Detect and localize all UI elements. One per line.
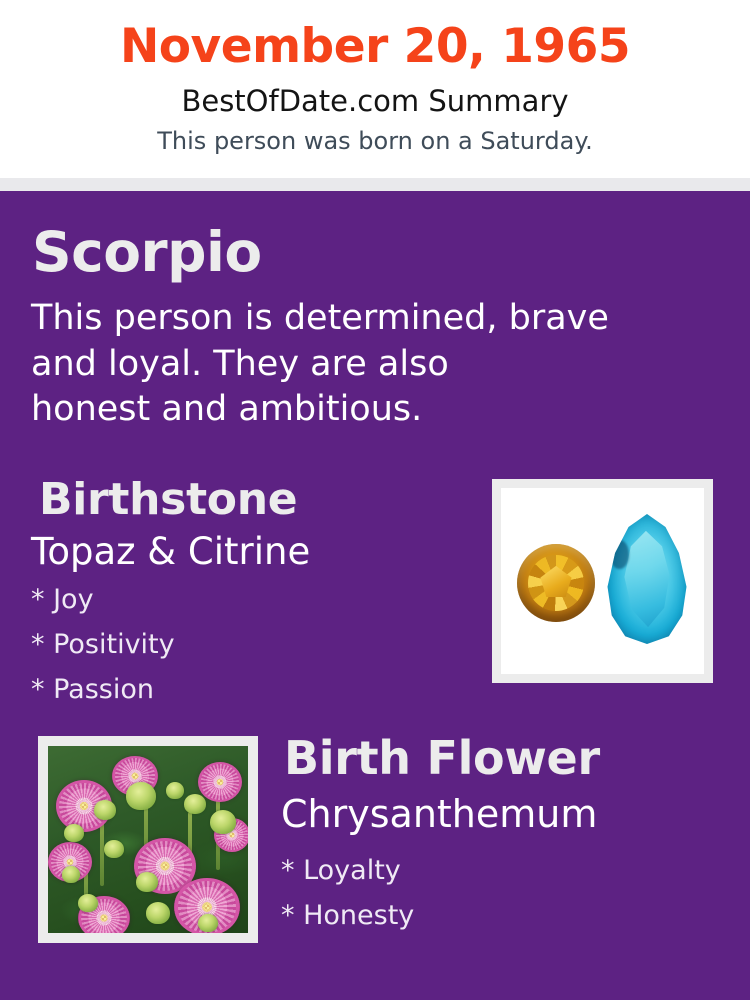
flower-bud bbox=[104, 840, 124, 858]
citrine-gem-icon bbox=[517, 544, 595, 622]
chrysanthemum-bloom bbox=[198, 762, 242, 802]
flower-bud bbox=[64, 824, 84, 842]
birthstone-heading: Birthstone bbox=[39, 478, 297, 522]
header: November 20, 1965 BestOfDate.com Summary… bbox=[0, 0, 750, 178]
birth-flower-heading: Birth Flower bbox=[284, 735, 600, 781]
birth-day-text: This person was born on a Saturday. bbox=[0, 128, 750, 154]
topaz-gem-icon bbox=[605, 514, 689, 644]
page-title-date: November 20, 1965 bbox=[0, 22, 750, 71]
flower-bud bbox=[166, 782, 184, 799]
zodiac-description: This person is determined, brave and loy… bbox=[31, 296, 711, 433]
birthstone-trait-item: * Passion bbox=[31, 676, 175, 703]
flower-bud bbox=[62, 866, 80, 883]
flower-bud bbox=[94, 800, 116, 820]
birthstone-image bbox=[501, 488, 704, 674]
flower-bud bbox=[126, 782, 156, 810]
flower-bud bbox=[210, 810, 236, 834]
flower-bud bbox=[78, 894, 98, 912]
flower-bud bbox=[184, 794, 206, 814]
zodiac-description-line: This person is determined, brave bbox=[31, 296, 711, 342]
birth-flower-image-frame bbox=[38, 736, 258, 943]
birth-flower-trait-item: * Honesty bbox=[281, 902, 414, 929]
birthstone-trait-item: * Positivity bbox=[31, 631, 175, 658]
zodiac-description-line: and loyal. They are also bbox=[31, 342, 711, 388]
flower-bud bbox=[136, 872, 158, 892]
birth-flower-name: Chrysanthemum bbox=[281, 795, 597, 833]
birth-flower-trait-item: * Loyalty bbox=[281, 857, 414, 884]
zodiac-description-line: honest and ambitious. bbox=[31, 387, 711, 433]
flower-bud bbox=[198, 914, 218, 932]
birth-flower-image bbox=[48, 746, 248, 933]
summary-card: November 20, 1965 BestOfDate.com Summary… bbox=[0, 0, 750, 1000]
birthstone-image-frame bbox=[492, 479, 713, 683]
zodiac-sign-title: Scorpio bbox=[32, 225, 262, 280]
header-divider bbox=[0, 178, 750, 191]
birthstone-trait-list: * Joy * Positivity * Passion bbox=[31, 586, 175, 721]
birth-flower-trait-list: * Loyalty * Honesty bbox=[281, 857, 414, 947]
flower-bud bbox=[146, 902, 170, 924]
birthstone-name: Topaz & Citrine bbox=[31, 533, 310, 570]
birthstone-trait-item: * Joy bbox=[31, 586, 175, 613]
site-name: BestOfDate.com Summary bbox=[0, 86, 750, 118]
